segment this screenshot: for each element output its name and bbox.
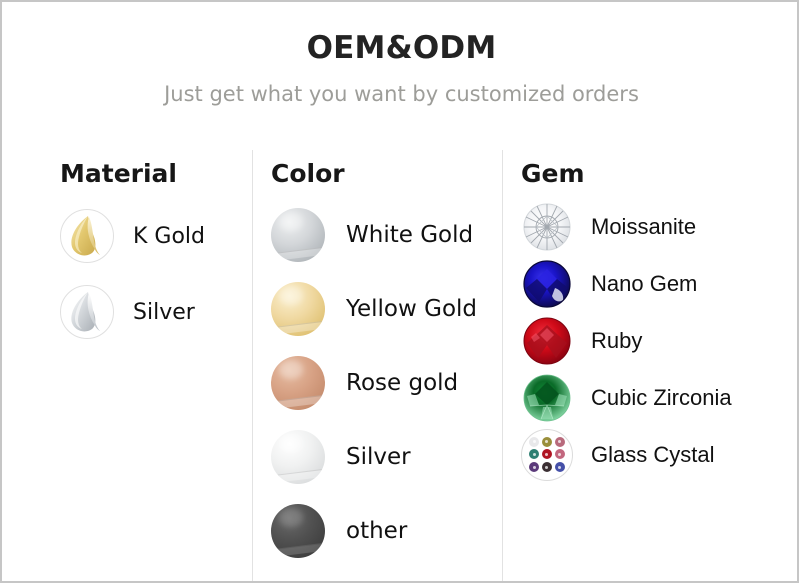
column-heading-gem: Gem — [521, 158, 799, 190]
petal-gold-icon — [60, 209, 114, 263]
option-glass-crystal[interactable]: Glass Cystal — [521, 426, 799, 483]
option-label-silver-color: Silver — [346, 444, 411, 470]
option-label-cubic-zirconia: Cubic Zirconia — [591, 385, 732, 411]
option-yellow-gold[interactable]: Yellow Gold — [271, 272, 502, 346]
option-silver-color[interactable]: Silver — [271, 420, 502, 494]
gem-zirconia-icon — [521, 372, 573, 424]
column-heading-material: Material — [60, 158, 252, 190]
mini-gem — [542, 449, 552, 459]
option-label-yellow-gold: Yellow Gold — [346, 296, 477, 322]
gem-option-list: Moissanite — [521, 198, 799, 483]
option-nano-gem[interactable]: Nano Gem — [521, 255, 799, 312]
option-columns: Material — [4, 150, 799, 581]
mini-gem — [529, 437, 539, 447]
column-heading-color: Color — [271, 158, 502, 190]
option-silver-material[interactable]: Silver — [60, 274, 252, 350]
gem-ruby-icon — [521, 315, 573, 367]
mini-gem — [555, 462, 565, 472]
column-color: Color White Gold Yellow Gold — [252, 150, 502, 581]
gem-nano-icon — [521, 258, 573, 310]
option-moissanite[interactable]: Moissanite — [521, 198, 799, 255]
column-material: Material — [4, 150, 252, 581]
option-label-glass-crystal: Glass Cystal — [591, 442, 714, 468]
option-label-moissanite: Moissanite — [591, 214, 696, 240]
disc-white-gold-icon — [271, 208, 325, 262]
gem-moissanite-icon — [521, 201, 573, 253]
option-white-gold[interactable]: White Gold — [271, 198, 502, 272]
option-label-k-gold: K Gold — [133, 224, 205, 249]
disc-yellow-gold-icon — [271, 282, 325, 336]
option-label-other-color: other — [346, 518, 407, 544]
color-option-list: White Gold Yellow Gold Rose gold — [271, 198, 502, 568]
disc-other-icon — [271, 504, 325, 558]
option-label-silver-material: Silver — [133, 300, 195, 325]
option-rose-gold[interactable]: Rose gold — [271, 346, 502, 420]
mini-gem — [542, 462, 552, 472]
mini-gem — [529, 462, 539, 472]
material-option-list: K Gold — [60, 198, 252, 350]
page-title: OEM&ODM — [2, 28, 799, 68]
page-subtitle: Just get what you want by customized ord… — [2, 80, 799, 108]
oem-odm-panel: OEM&ODM Just get what you want by custom… — [0, 0, 799, 583]
disc-rose-gold-icon — [271, 356, 325, 410]
petal-silver-icon — [60, 285, 114, 339]
panel-header: OEM&ODM Just get what you want by custom… — [2, 28, 799, 108]
option-label-ruby: Ruby — [591, 328, 642, 354]
option-ruby[interactable]: Ruby — [521, 312, 799, 369]
option-k-gold[interactable]: K Gold — [60, 198, 252, 274]
option-label-white-gold: White Gold — [346, 222, 473, 248]
column-gem: Gem — [502, 150, 799, 581]
option-other-color[interactable]: other — [271, 494, 502, 568]
option-label-rose-gold: Rose gold — [346, 370, 458, 396]
mini-gem — [542, 437, 552, 447]
gem-glass-crystal-icon — [521, 429, 573, 481]
mini-gem — [555, 449, 565, 459]
disc-silver-icon — [271, 430, 325, 484]
mini-gem — [529, 449, 539, 459]
option-cubic-zirconia[interactable]: Cubic Zirconia — [521, 369, 799, 426]
option-label-nano-gem: Nano Gem — [591, 271, 697, 297]
mini-gem — [555, 437, 565, 447]
